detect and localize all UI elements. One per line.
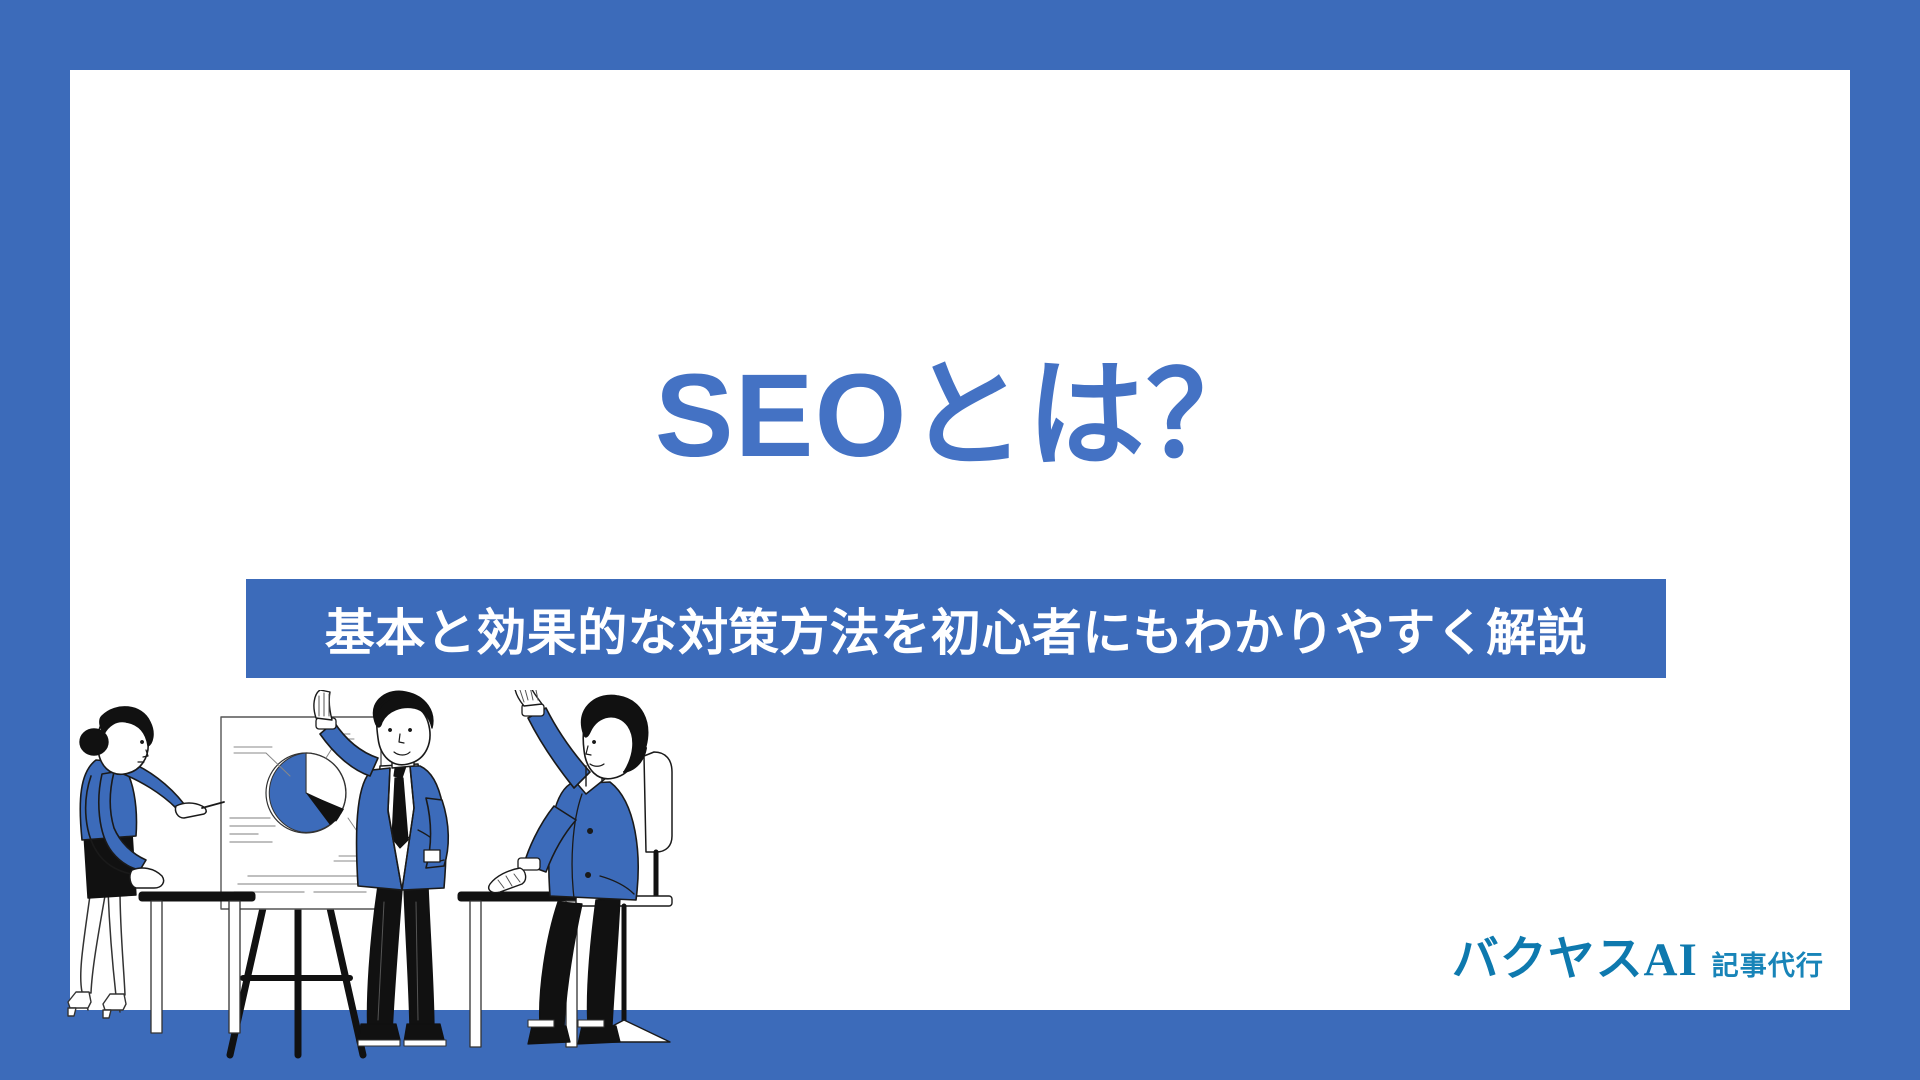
brand-logo-name: バクヤスAI	[1452, 920, 1698, 989]
person-seated-hand-raised	[489, 690, 672, 1044]
slide-canvas: SEOとは？ 基本と効果的な対策方法を初心者にもわかりやすく解説 バクヤスAI …	[0, 0, 1920, 1080]
business-team-illustration	[58, 690, 778, 1065]
person-woman-pointing	[68, 707, 224, 1018]
illustration-svg	[58, 690, 778, 1065]
brand-logo-service: 記事代行	[1712, 944, 1824, 983]
brand-logo: バクヤスAI 記事代行	[1452, 920, 1824, 989]
subtitle-text: 基本と効果的な対策方法を初心者にもわかりやすく解説	[325, 593, 1588, 665]
subtitle-band: 基本と効果的な対策方法を初心者にもわかりやすく解説	[246, 579, 1666, 678]
